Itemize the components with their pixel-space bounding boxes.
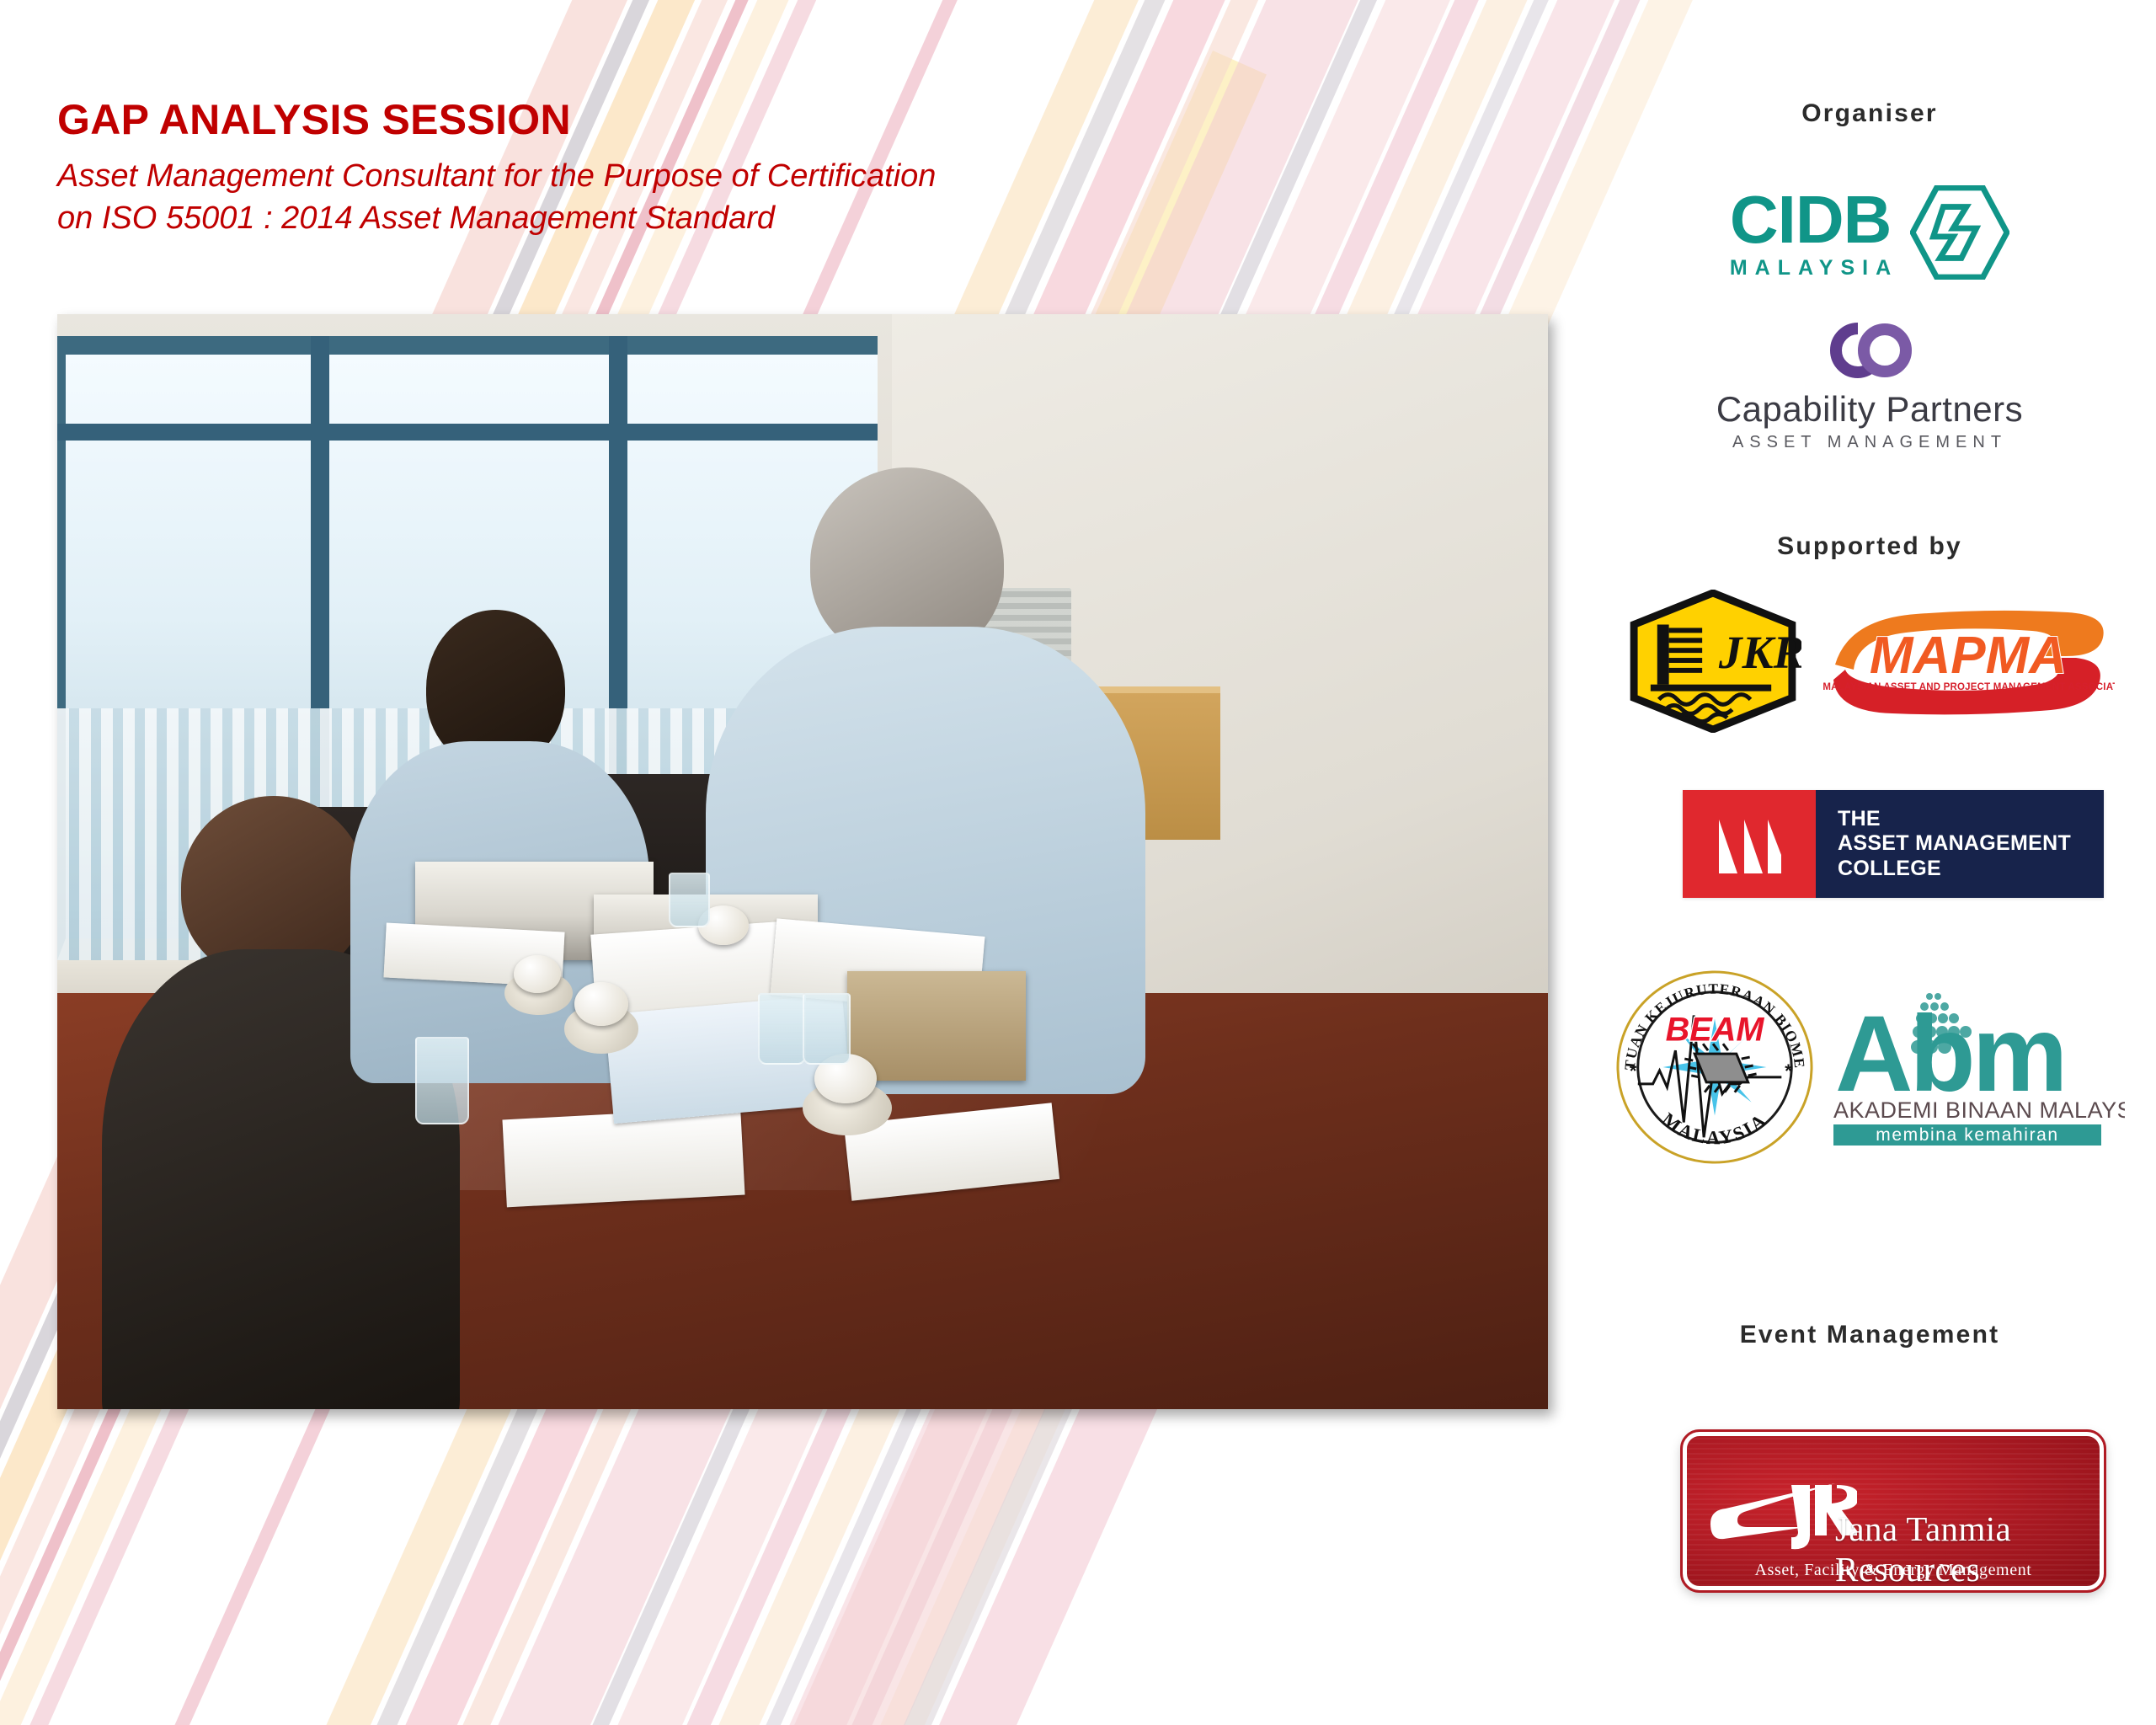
session-photo	[57, 314, 1548, 1409]
amc-line-2: ASSET MANAGEMENT	[1838, 831, 2104, 857]
logo-beam: PERSATUAN KEJURUTERAAN BIOMEDIKAL MALAYS…	[1614, 967, 1815, 1167]
supporter-row-1: JKR MAPMA THE MALAYSIAN ASSET AND PROJEC…	[1583, 590, 2156, 733]
photo-content	[57, 314, 1548, 1409]
logo-mapma: MAPMA THE MALAYSIAN ASSET AND PROJECT MA…	[1820, 602, 2115, 720]
subtitle-line-2: on ISO 55001 : 2014 Asset Management Sta…	[57, 198, 936, 238]
supporter-row-2: PERSATUAN KEJURUTERAAN BIOMEDIKAL MALAYS…	[1583, 967, 2156, 1167]
poster-canvas: GAP ANALYSIS SESSION Asset Management Co…	[0, 0, 2156, 1725]
stripe	[0, 0, 53, 1725]
subtitle-line-1: Asset Management Consultant for the Purp…	[57, 156, 936, 196]
photo-cup	[514, 955, 562, 994]
capability-co-monogram-icon	[1817, 318, 1922, 382]
beam-star-right: *	[1785, 1060, 1792, 1081]
abm-tagline: membina kemahiran	[1876, 1125, 2058, 1145]
mapma-tagline: THE MALAYSIAN ASSET AND PROJECT MANAGEME…	[1820, 682, 2115, 692]
photo-glass	[803, 993, 851, 1065]
capability-subtitle: ASSET MANAGEMENT	[1583, 433, 2156, 452]
jkr-wordmark: JKR	[1718, 627, 1801, 678]
amc-mark	[1683, 790, 1816, 898]
beam-star-left: *	[1630, 1060, 1637, 1081]
capability-name: Capability Partners	[1583, 389, 2156, 430]
stripe	[0, 0, 29, 1725]
logo-cidb: CIDB MALAYSIA	[1583, 185, 2156, 280]
cidb-hexagon-icon	[1910, 185, 2009, 280]
page-title: GAP ANALYSIS SESSION	[57, 98, 936, 142]
logo-abm: Abm AKADEMI BINAAN MALAYSIA membina kema…	[1830, 983, 2125, 1151]
amc-line-1: THE	[1838, 807, 2104, 832]
cidb-subtitle: MALAYSIA	[1730, 258, 1898, 279]
abm-subtitle: AKADEMI BINAAN MALAYSIA	[1833, 1097, 2125, 1123]
event-management-label: Event Management	[1583, 1321, 2156, 1349]
logo-capability-partners: Capability Partners ASSET MANAGEMENT	[1583, 318, 2156, 452]
sponsor-rail: Organiser CIDB MALAYSIA Capability Partn…	[1583, 0, 2156, 1725]
amc-triangles-icon	[1700, 813, 1798, 875]
beam-wordmark: BEAM	[1666, 1011, 1765, 1048]
photo-glass	[415, 1037, 469, 1124]
photo-window-transom	[57, 424, 878, 441]
cidb-wordmark: CIDB MALAYSIA	[1730, 186, 1898, 279]
photo-file-box	[847, 971, 1026, 1081]
photo-cup	[574, 982, 628, 1026]
logo-jana-tanmia-resources: Jana Tanmia Resources Asset, Facility & …	[1683, 1432, 2104, 1590]
photo-glass	[669, 873, 711, 927]
organiser-label: Organiser	[1583, 99, 2156, 128]
photo-glass	[758, 993, 806, 1065]
amc-text: THE ASSET MANAGEMENT COLLEGE	[1816, 790, 2104, 898]
title-block: GAP ANALYSIS SESSION Asset Management Co…	[57, 98, 936, 238]
supported-by-label: Supported by	[1583, 532, 2156, 561]
abm-wordmark: Abm	[1835, 994, 2064, 1114]
logo-jkr: JKR	[1625, 590, 1801, 733]
jtr-tagline: Asset, Facility & Energy Management	[1687, 1561, 2100, 1580]
cidb-word: CIDB	[1730, 186, 1898, 254]
amc-line-3: COLLEGE	[1838, 857, 2104, 882]
mapma-wordmark: MAPMA	[1870, 627, 2067, 685]
logo-asset-management-college: THE ASSET MANAGEMENT COLLEGE	[1683, 790, 2104, 898]
jtr-swoosh-icon	[1705, 1471, 1857, 1552]
